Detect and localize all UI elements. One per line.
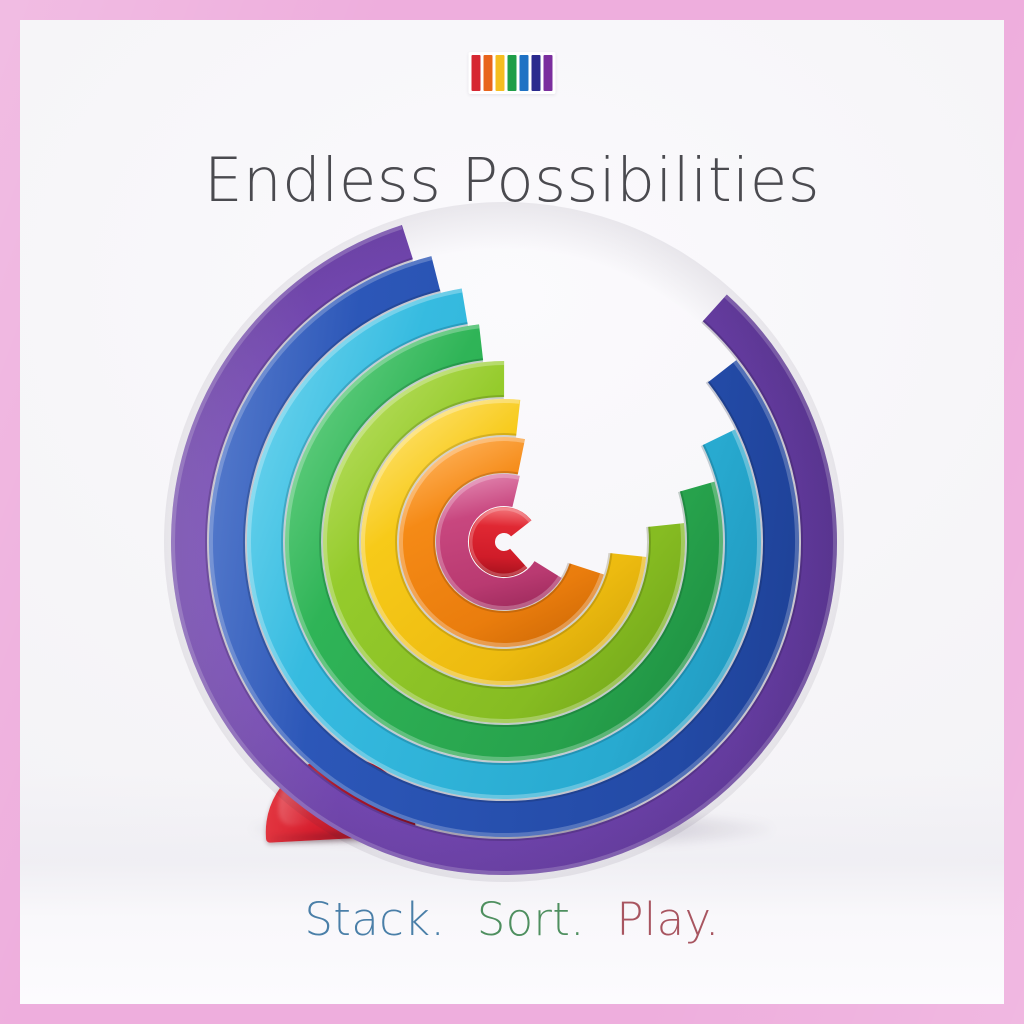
logo-bar-blue-icon [520,55,529,91]
logo-bar-navy-icon [532,55,541,91]
rainbow-bars-logo [469,52,556,94]
logo-bar-yellow-icon [496,55,505,91]
logo-bar-green-icon [508,55,517,91]
rainbow-stacker-toy [80,118,929,967]
poster-frame: Endless Possibilities [0,0,1024,1024]
tagline-word-stack: Stack. [304,893,445,946]
logo-bar-red-icon [472,55,481,91]
logo-bar-purple-icon [544,55,553,91]
poster-canvas: Endless Possibilities [20,20,1004,1004]
tagline-word-play: Play. [616,893,719,946]
logo-bar-orange-icon [484,55,493,91]
tagline-word-sort: Sort. [477,893,585,946]
tagline: Stack. Sort. Play. [20,893,1004,946]
